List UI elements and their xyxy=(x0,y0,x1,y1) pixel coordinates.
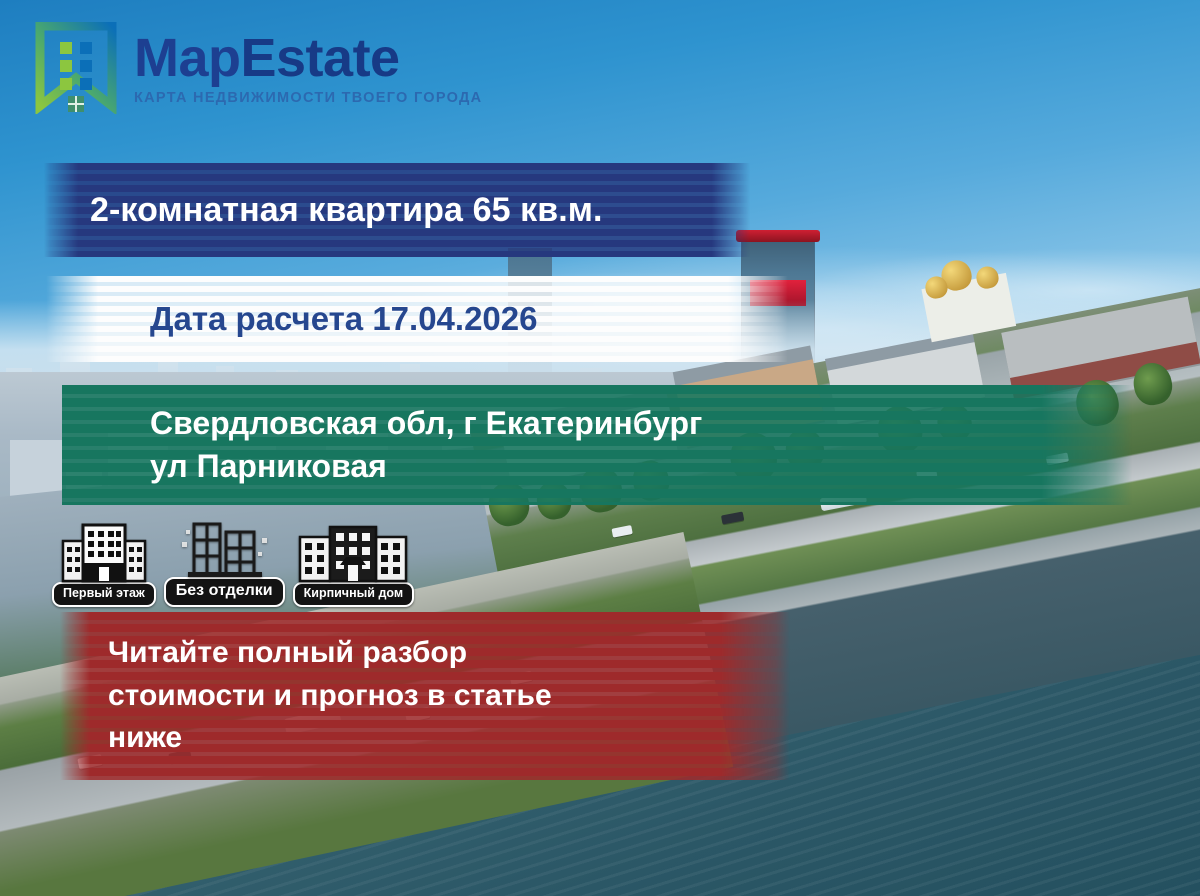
property-title-text: 2-комнатная квартира 65 кв.м. xyxy=(44,191,603,230)
apartment-building-icon xyxy=(61,521,147,588)
badge-first-floor: Первый этаж xyxy=(52,521,156,607)
address-line-1: Свердловская обл, г Екатеринбург xyxy=(62,402,702,445)
property-title-band: 2-комнатная квартира 65 кв.м. xyxy=(44,163,750,257)
brand-name-map: Map xyxy=(134,28,241,88)
brand-wordmark: MapEstate КАРТА НЕДВИЖИМОСТИ ТВОЕГО ГОРО… xyxy=(134,31,482,106)
address-line-2: ул Парниковая xyxy=(62,445,387,488)
cta-line-1: Читайте полный разбор xyxy=(60,632,467,675)
calculation-date-band: Дата расчета 17.04.2026 xyxy=(46,276,788,362)
cta-band[interactable]: Читайте полный разбор стоимости и прогно… xyxy=(60,612,790,780)
brand-logo[interactable]: MapEstate КАРТА НЕДВИЖИМОСТИ ТВОЕГО ГОРО… xyxy=(34,22,482,114)
unfinished-frame-icon xyxy=(178,516,270,583)
brick-building-icon xyxy=(298,521,408,588)
cta-line-3: ниже xyxy=(60,717,182,760)
property-promo-poster: MapEstate КАРТА НЕДВИЖИМОСТИ ТВОЕГО ГОРО… xyxy=(0,0,1200,896)
brand-tagline: КАРТА НЕДВИЖИМОСТИ ТВОЕГО ГОРОДА xyxy=(134,90,482,106)
address-band: Свердловская обл, г Екатеринбург ул Парн… xyxy=(62,385,1132,505)
badge-brick-house: Кирпичный дом xyxy=(293,521,414,607)
cta-line-2: стоимости и прогноз в статье xyxy=(60,675,552,718)
brand-name-estate: Estate xyxy=(241,28,400,88)
feature-badge-group: Первый этаж xyxy=(52,516,414,607)
bookmark-building-icon xyxy=(34,22,118,114)
badge-no-finishing: Без отделки xyxy=(164,516,285,607)
brand-name: MapEstate xyxy=(134,31,482,85)
calculation-date-text: Дата расчета 17.04.2026 xyxy=(46,300,537,338)
